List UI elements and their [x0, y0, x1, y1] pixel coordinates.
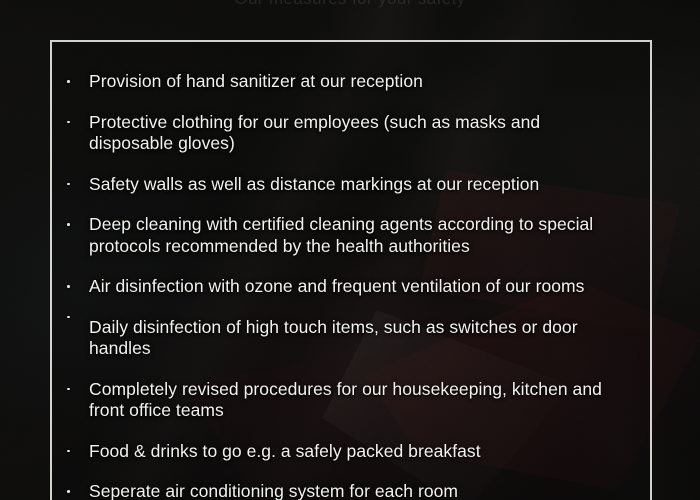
dot-bullet-icon — [67, 316, 70, 319]
measure-item-label: Deep cleaning with certified cleaning ag… — [89, 214, 628, 257]
measure-item-deep-cleaning: Deep cleaning with certified cleaning ag… — [52, 214, 650, 257]
clipped-heading-text: Our measures for your safety — [0, 0, 700, 9]
dot-bullet-icon — [67, 223, 70, 226]
measure-item-revised-procedures: Completely revised procedures for our ho… — [52, 379, 650, 422]
measure-item-label: Safety walls as well as distance marking… — [89, 174, 628, 196]
measures-panel: Provision of hand sanitizer at our recep… — [50, 40, 652, 500]
dot-bullet-icon — [67, 490, 70, 493]
measure-item-protective-clothing: Protective clothing for our employees (s… — [52, 112, 650, 155]
measure-item-label: Protective clothing for our employees (s… — [89, 112, 628, 155]
dot-bullet-icon — [67, 80, 70, 83]
slide-canvas: Our measures for your safety Provision o… — [0, 0, 700, 500]
measure-item-label: Air disinfection with ozone and frequent… — [89, 276, 628, 298]
measure-item-air-disinfection: Air disinfection with ozone and frequent… — [52, 276, 650, 298]
measure-item-hand-sanitizer: Provision of hand sanitizer at our recep… — [52, 71, 650, 93]
measure-item-label: Seperate air conditioning system for eac… — [89, 481, 628, 500]
measure-item-label: Completely revised procedures for our ho… — [89, 379, 628, 422]
measure-item-food-drinks-to-go: Food & drinks to go e.g. a safely packed… — [52, 441, 650, 463]
measures-list: Provision of hand sanitizer at our recep… — [52, 42, 650, 500]
dot-bullet-icon — [67, 285, 70, 288]
clipped-heading-strip: Our measures for your safety — [0, 0, 700, 14]
dot-bullet-icon — [67, 183, 70, 186]
measure-item-label: Daily disinfection of high touch items, … — [89, 317, 628, 360]
dot-bullet-icon — [67, 450, 70, 453]
dot-bullet-icon — [67, 388, 70, 391]
measure-item-daily-disinfection: Daily disinfection of high touch items, … — [52, 317, 650, 360]
dot-bullet-icon — [67, 121, 70, 124]
measure-item-separate-air-conditioning: Seperate air conditioning system for eac… — [52, 481, 650, 500]
measure-item-safety-walls: Safety walls as well as distance marking… — [52, 174, 650, 196]
measure-item-label: Provision of hand sanitizer at our recep… — [89, 71, 628, 93]
measure-item-label: Food & drinks to go e.g. a safely packed… — [89, 441, 628, 463]
